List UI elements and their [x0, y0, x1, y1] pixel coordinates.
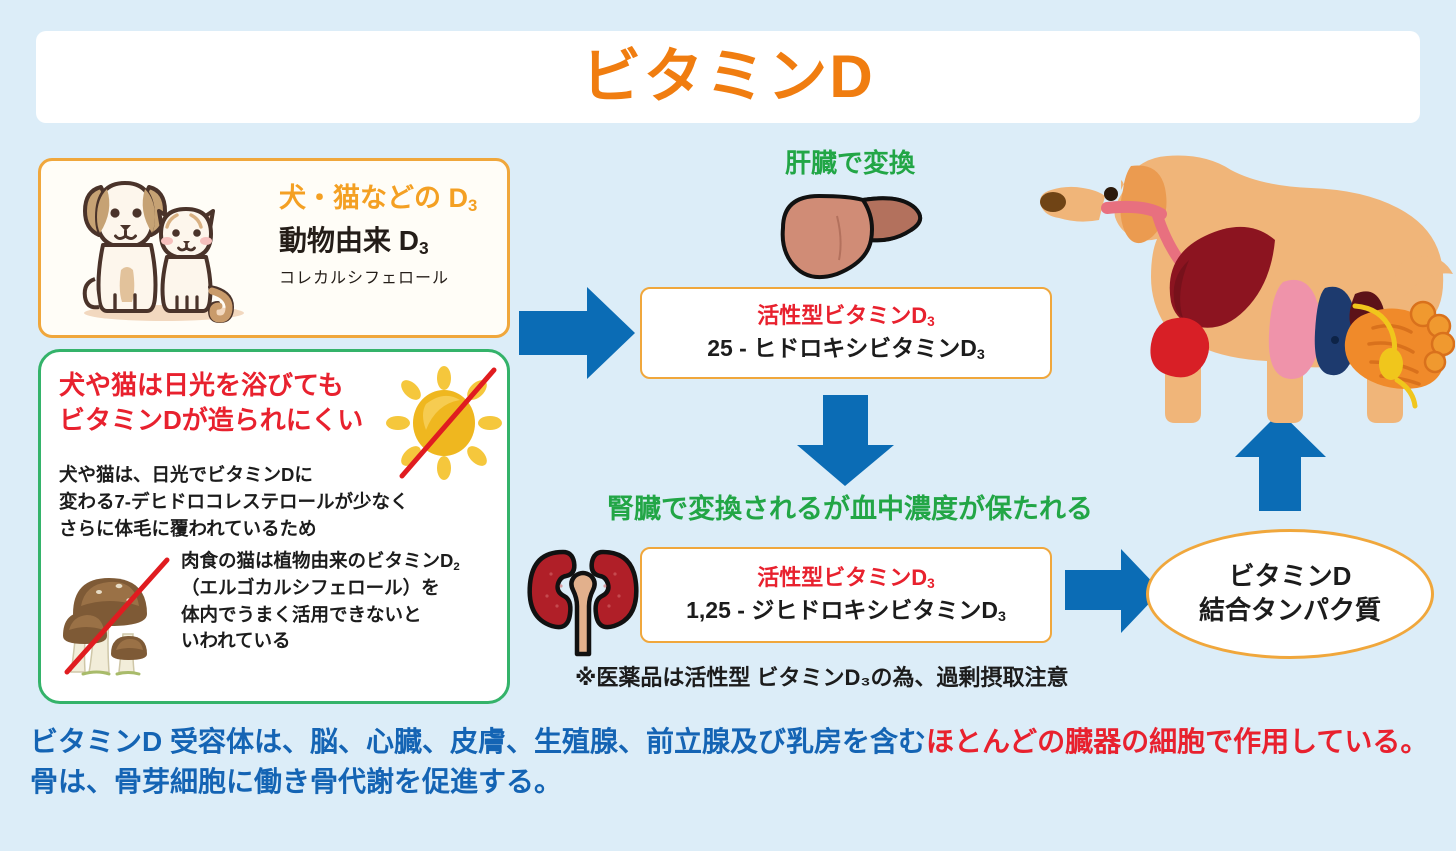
active-vitamin-d3-kidney-box: 活性型ビタミンD3 1,25 - ジヒドロキシビタミンD3: [640, 547, 1052, 643]
bottom-line-1: ビタミンD 受容体は、脳、心臓、皮膚、生殖腺、前立腺及び乳房を含むほとんどの臓器…: [30, 722, 1440, 762]
animal-source-box: 犬・猫などの D3 動物由来 D3 コレカルシフェロール: [38, 158, 510, 338]
liver-conversion-label: 肝臓で変換: [700, 143, 1000, 180]
kidney-box-red-label: 活性型ビタミンD3: [757, 564, 934, 592]
kidney-conversion-label: 腎臓で変換されるが血中濃度が保たれる: [520, 487, 1180, 526]
bottom-line-1-red: ほとんどの臓器の細胞で作用している。: [926, 726, 1428, 757]
animal-d3-source: 動物由来 D3: [279, 224, 504, 258]
mushroom-text-line2: （エルゴカルシフェロール）を: [181, 575, 501, 602]
liver-box-black-label: 25 - ヒドロキシビタミンD3: [707, 334, 985, 364]
title-card: ビタミンD: [36, 31, 1420, 123]
sunlight-body-text: 犬や猫は、日光でビタミンDに 変わる7-デヒドロコレステロールが少なく さらに体…: [59, 462, 497, 542]
sunlight-headline-line2: ビタミンDが造られにくい: [59, 403, 379, 438]
vitamin-d-binding-protein-oval: ビタミンD 結合タンパク質: [1146, 529, 1434, 659]
mushroom-text-line3: 体内でうまく活用できないと: [181, 602, 501, 629]
sunlight-body-line2: 変わる7-デヒドロコレステロールが少なく: [59, 489, 497, 516]
bottom-line-1-blue: ビタミンD 受容体は、脳、心臓、皮膚、生殖腺、前立腺及び乳房を含む: [30, 726, 926, 757]
animal-d3-chemical-name: コレカルシフェロール: [279, 264, 504, 288]
liver-box-red-label: 活性型ビタミンD3: [757, 302, 934, 330]
infographic-canvas: ビタミンD: [0, 0, 1456, 851]
mushroom-text: 肉食の猫は植物由来のビタミンD2 （エルゴカルシフェロール）を 体内でうまく活用…: [181, 548, 501, 655]
mushroom-crossed-out-icon: [61, 548, 181, 678]
bottom-summary-text: ビタミンD 受容体は、脳、心臓、皮膚、生殖腺、前立腺及び乳房を含むほとんどの臓器…: [30, 722, 1440, 802]
active-vitamin-d3-liver-box: 活性型ビタミンD3 25 - ヒドロキシビタミンD3: [640, 287, 1052, 379]
arrow-right-to-liver-box: [517, 283, 637, 383]
animal-d3-heading: 犬・猫などの D3: [279, 183, 504, 214]
bottom-line-2: 骨は、骨芽細胞に働き骨代謝を促進する。: [30, 762, 1440, 802]
sunlight-body-line1: 犬や猫は、日光でビタミンDに: [59, 462, 497, 489]
sunlight-headline-line1: 犬や猫は日光を浴びても: [59, 368, 379, 403]
mushroom-text-line1: 肉食の猫は植物由来のビタミンD2: [181, 548, 501, 575]
oval-line-1: ビタミンD: [1229, 560, 1352, 594]
dog-anatomy-icon: [1025, 130, 1455, 440]
sunlight-limitation-box: 犬や猫は日光を浴びても ビタミンDが造られにくい 犬や猫は、日光でビタミンDに …: [38, 349, 510, 704]
sunlight-headline: 犬や猫は日光を浴びても ビタミンDが造られにくい: [59, 368, 379, 438]
arrow-down-to-kidney-box: [793, 393, 898, 488]
sunlight-body-line3: さらに体毛に覆われているため: [59, 516, 497, 543]
kidney-box-black-label: 1,25 - ジヒドロキシビタミンD3: [686, 596, 1006, 626]
mushroom-text-line4: いわれている: [181, 628, 501, 655]
dog-and-cat-icon: [59, 175, 269, 325]
kidney-icon: [523, 540, 643, 660]
liver-icon: [775, 188, 925, 288]
page-title: ビタミンD: [581, 47, 874, 107]
animal-source-text: 犬・猫などの D3 動物由来 D3 コレカルシフェロール: [279, 183, 504, 288]
oval-line-2: 結合タンパク質: [1199, 594, 1381, 628]
overdose-warning-note: ※医薬品は活性型 ビタミンD₃の為、過剰摂取注意: [575, 660, 1195, 692]
